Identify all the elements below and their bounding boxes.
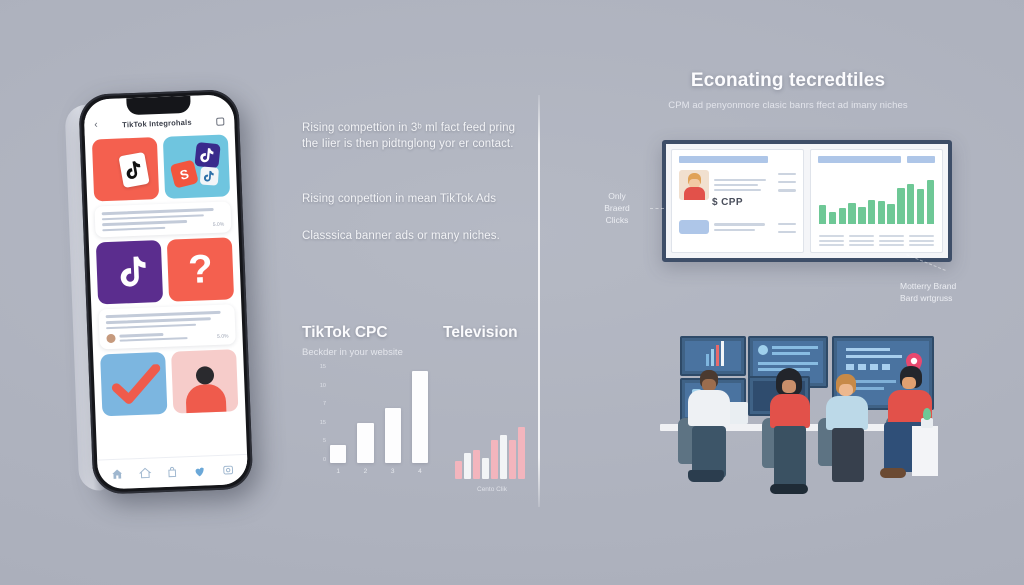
- check-tile[interactable]: [100, 352, 167, 416]
- y-tick-label: 10: [320, 384, 326, 390]
- television-bar-chart: Cento Clik: [455, 415, 533, 493]
- middle-copy-block: Rising compettion in 3ᵇ ml fact feed pri…: [302, 120, 530, 244]
- layout-square-icon[interactable]: [216, 117, 224, 125]
- annotation-line: Only: [583, 190, 651, 202]
- green-bar-4: [858, 207, 865, 224]
- panel-footer-lines: [819, 235, 934, 246]
- phone-screen: ‹ TikTok Integrohals: [83, 94, 248, 489]
- page-subtitle: CPM ad penyonmore clasic banrs ffect ad …: [562, 100, 1014, 111]
- bar-series: [330, 365, 428, 463]
- avatar-head-icon: [195, 366, 214, 385]
- paragraph-1: Rising compettion in 3ᵇ ml fact feed pri…: [302, 120, 530, 152]
- y-axis-ticks: 151071550: [308, 365, 326, 463]
- green-bar-3: [848, 203, 855, 224]
- bar-4: [412, 371, 428, 463]
- app-content: S 5.0%: [85, 130, 246, 421]
- panel-side-lines: [778, 170, 796, 200]
- panel-header-bar: [679, 156, 768, 163]
- tiktok-card-tile[interactable]: [92, 137, 159, 201]
- y-tick-label: 15: [320, 421, 326, 427]
- avatar: [106, 334, 115, 343]
- bar-2: [473, 450, 480, 479]
- phone-mockup: ‹ TikTok Integrohals: [64, 89, 260, 508]
- leader-line-left: [650, 208, 664, 209]
- bar-1: [464, 453, 471, 479]
- tiktok-glyph-icon: [112, 251, 158, 301]
- annotation-line: Bard wrtgruss: [900, 292, 1010, 304]
- question-mark-icon: ?: [187, 249, 213, 290]
- y-tick-label: 7: [323, 402, 326, 408]
- bar-4: [491, 440, 498, 479]
- bar-5: [500, 435, 507, 479]
- chevron-left-icon[interactable]: ‹: [94, 120, 98, 130]
- green-bar-2: [839, 208, 846, 224]
- bar-0: [455, 461, 462, 479]
- list-item[interactable]: 5.0%: [98, 305, 235, 350]
- green-bar-1: [829, 212, 836, 224]
- chart-subtitle: Beckder in your website: [302, 347, 403, 358]
- green-bar-0: [819, 205, 826, 224]
- x-axis-label: Cento Clik: [455, 486, 529, 493]
- bar-6: [509, 440, 516, 479]
- poster-canvas: ‹ TikTok Integrohals: [0, 0, 1024, 585]
- phone-frame: ‹ TikTok Integrohals: [78, 89, 253, 495]
- phone-tabbar: [97, 454, 248, 490]
- green-bar-series: [819, 176, 934, 224]
- x-tick-label: 3: [385, 468, 401, 475]
- television-chart-header: Television: [443, 324, 518, 342]
- tile-row-1: S: [92, 134, 230, 201]
- bar-2: [357, 423, 373, 463]
- green-bar-8: [897, 188, 904, 224]
- office-team-scene: [650, 330, 940, 505]
- vertical-divider: [538, 95, 540, 507]
- panel-block: [679, 220, 709, 234]
- avatar-tile[interactable]: [171, 349, 238, 413]
- tiktok-cpc-bar-chart: 151071550 1234: [308, 365, 428, 475]
- green-bar-9: [907, 184, 914, 224]
- tiktok-purple-badge-icon: [194, 142, 220, 168]
- annotation-motterry-brand: Motterry Brand Bard wrtgruss: [900, 280, 1010, 304]
- green-bar-11: [927, 180, 934, 224]
- x-tick-label: 1: [330, 468, 346, 475]
- green-bar-10: [917, 189, 924, 224]
- plant-icon: [918, 402, 936, 428]
- annotation-only-brand-clicks: Only Braerd Clicks: [583, 190, 651, 226]
- tile-row-3: [100, 349, 238, 416]
- tiktok-purple-tile[interactable]: [96, 240, 163, 304]
- bar-1: [330, 445, 346, 463]
- tiktok-stack-tile[interactable]: S: [163, 134, 230, 198]
- y-tick-label: 0: [323, 458, 326, 464]
- dashboard-left-panel[interactable]: $ CPP: [671, 149, 804, 253]
- annotation-line: Braerd: [583, 202, 651, 214]
- x-tick-label: 4: [412, 468, 428, 475]
- panel-text-lines: [714, 170, 773, 200]
- tile-row-2: ?: [96, 238, 234, 305]
- bar-series: [455, 427, 529, 479]
- panel-text-lines: [714, 220, 773, 234]
- dashboard-right-panel[interactable]: [810, 149, 943, 253]
- green-bar-7: [887, 204, 894, 224]
- camera-icon[interactable]: [221, 463, 234, 476]
- annotation-line: Clicks: [583, 214, 651, 226]
- check-icon: [111, 364, 162, 406]
- avatar-row: [106, 330, 228, 344]
- person-thumbnail: [679, 170, 709, 200]
- bar-7: [518, 427, 525, 479]
- metric-percent: 5.0%: [213, 222, 225, 228]
- avatar-body-icon: [185, 384, 226, 414]
- panel-side-lines: [778, 220, 796, 234]
- metric-percent: 5.0%: [217, 334, 229, 340]
- bag-icon[interactable]: [165, 465, 178, 478]
- panel-row: [679, 170, 796, 200]
- green-bar-5: [868, 200, 875, 224]
- house-icon[interactable]: [138, 467, 151, 480]
- home-icon[interactable]: [111, 468, 124, 481]
- question-tile[interactable]: ?: [167, 238, 234, 302]
- bar-3: [482, 458, 489, 479]
- cpp-metric-label: $ CPP: [712, 197, 743, 208]
- heart-icon[interactable]: [193, 464, 208, 479]
- app-title: TikTok Integrohals: [122, 118, 192, 130]
- chart-title: Television: [443, 324, 518, 342]
- paragraph-2: Rising conpettion in mean TikTok Ads: [302, 191, 530, 207]
- right-heading-block: Econating tecredtiles CPM ad penyonmore …: [562, 70, 1014, 111]
- panel-header-row: [818, 156, 935, 163]
- bar-3: [385, 408, 401, 463]
- list-item[interactable]: 5.0%: [94, 201, 231, 238]
- tiktok-glyph-icon: [118, 152, 149, 188]
- chart-title: TikTok CPC: [302, 324, 403, 342]
- y-tick-label: 5: [323, 439, 326, 445]
- green-bar-6: [878, 201, 885, 224]
- page-title: Econating tecredtiles: [562, 70, 1014, 92]
- phone-notch: [126, 96, 191, 115]
- panel-row: [679, 220, 796, 234]
- y-tick-label: 15: [320, 365, 326, 371]
- annotation-line: Motterry Brand: [900, 280, 1010, 292]
- dashboard-mockup: $ CPP: [662, 140, 952, 262]
- paragraph-3: Classsica banner ads or many niches.: [302, 228, 530, 244]
- note-badge-icon: [200, 167, 219, 186]
- x-axis-labels: 1234: [330, 468, 428, 475]
- tiktok-cpc-chart-header: TikTok CPC Beckder in your website: [302, 324, 403, 358]
- side-podium: [912, 426, 938, 476]
- tiktok-note-icon: [118, 152, 149, 188]
- x-tick-label: 2: [357, 468, 373, 475]
